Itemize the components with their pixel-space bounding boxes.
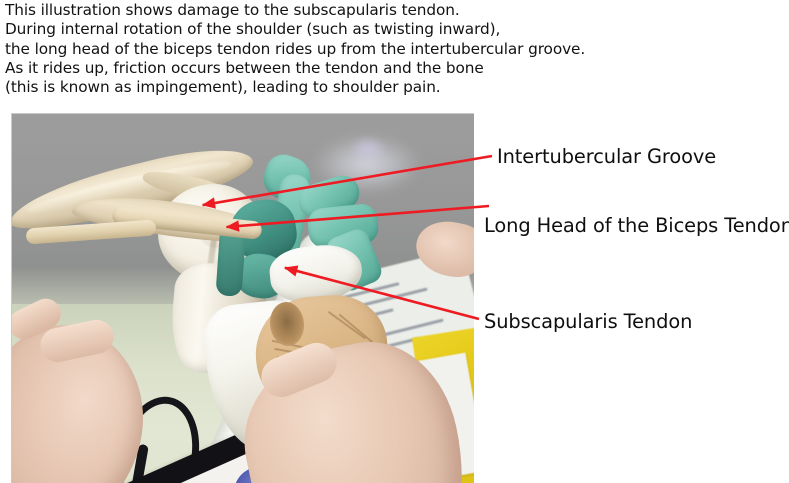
- label-subscapularis-tendon: Subscapularis Tendon: [484, 311, 692, 333]
- label-long-head-biceps-tendon: Long Head of the Biceps Tendon: [484, 215, 789, 237]
- ceiling-light-core: [350, 136, 386, 162]
- anatomy-photo: [11, 113, 474, 483]
- caption-line-3: the long head of the biceps tendon rides…: [5, 40, 785, 59]
- label-intertubercular-groove: Intertubercular Groove: [497, 146, 716, 168]
- caption-line-4: As it rides up, friction occurs between …: [5, 59, 785, 78]
- caption-line-1: This illustration shows damage to the su…: [5, 1, 785, 20]
- caption-line-2: During internal rotation of the shoulder…: [5, 20, 785, 39]
- caption-line-5: (this is known as impingement), leading …: [5, 78, 785, 97]
- caption-block: This illustration shows damage to the su…: [5, 1, 785, 97]
